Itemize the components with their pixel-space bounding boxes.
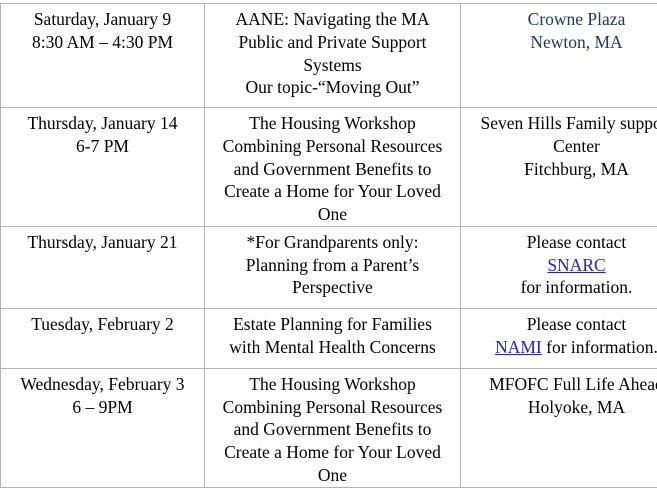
event-title-cell: AANE: Navigating the MA Public and Priva…	[205, 4, 461, 108]
venue-line-suffix: for information.	[542, 337, 657, 357]
event-venue-cell: Please contact NAMI for information.	[461, 308, 657, 368]
event-line: Perspective	[211, 276, 454, 299]
time-line: 6 – 9PM	[7, 396, 198, 419]
venue-link-line: SNARC	[467, 254, 657, 277]
table-row: Tuesday, February 2 Estate Planning for …	[1, 308, 657, 368]
event-line: Public and Private Support	[211, 31, 454, 54]
event-line: One	[211, 203, 454, 226]
venue-line: Holyoke, MA	[467, 396, 657, 419]
event-line: Combining Personal Resources	[211, 135, 454, 158]
event-title-cell: *For Grandparents only: Planning from a …	[205, 226, 461, 308]
event-venue-cell: Seven Hills Family support Center Fitchb…	[461, 108, 657, 227]
event-venue-cell: MFOFC Full Life Ahead Holyoke, MA	[461, 368, 657, 487]
event-date-cell: Thursday, January 21	[1, 226, 205, 308]
date-line: Wednesday, February 3	[7, 373, 198, 396]
event-line: Combining Personal Resources	[211, 396, 454, 419]
event-line: The Housing Workshop	[211, 112, 454, 135]
time-line: 8:30 AM – 4:30 PM	[7, 31, 198, 54]
event-date-cell: Saturday, January 9 8:30 AM – 4:30 PM	[1, 4, 205, 108]
date-line: Tuesday, February 2	[7, 313, 198, 336]
event-line: with Mental Health Concerns	[211, 336, 454, 359]
event-date-cell: Thursday, January 14 6-7 PM	[1, 108, 205, 227]
table-row: Thursday, January 21 *For Grandparents o…	[1, 226, 657, 308]
table-row: Wednesday, February 3 6 – 9PM The Housin…	[1, 368, 657, 487]
date-line: Saturday, January 9	[7, 8, 198, 31]
event-line: Create a Home for Your Loved	[211, 441, 454, 464]
venue-line: Newton, MA	[467, 31, 657, 54]
event-title-cell: The Housing Workshop Combining Personal …	[205, 108, 461, 227]
event-line: One	[211, 464, 454, 487]
event-schedule-table: Saturday, January 9 8:30 AM – 4:30 PM AA…	[0, 3, 657, 488]
event-title-cell: The Housing Workshop Combining Personal …	[205, 368, 461, 487]
event-date-cell: Wednesday, February 3 6 – 9PM	[1, 368, 205, 487]
venue-line: Seven Hills Family support	[467, 112, 657, 135]
event-line: Estate Planning for Families	[211, 313, 454, 336]
event-date-cell: Tuesday, February 2	[1, 308, 205, 368]
event-line: and Government Benefits to	[211, 158, 454, 181]
event-title-cell: Estate Planning for Families with Mental…	[205, 308, 461, 368]
event-line: AANE: Navigating the MA	[211, 8, 454, 31]
venue-line: for information.	[467, 276, 657, 299]
table-row: Saturday, January 9 8:30 AM – 4:30 PM AA…	[1, 4, 657, 108]
event-line: Planning from a Parent’s	[211, 254, 454, 277]
venue-line: Center	[467, 135, 657, 158]
date-line: Thursday, January 21	[7, 231, 198, 254]
event-line: and Government Benefits to	[211, 418, 454, 441]
venue-line: MFOFC Full Life Ahead	[467, 373, 657, 396]
nami-link[interactable]: NAMI	[495, 337, 542, 357]
event-line: *For Grandparents only:	[211, 231, 454, 254]
event-venue-cell: Crowne Plaza Newton, MA	[461, 4, 657, 108]
event-line: Create a Home for Your Loved	[211, 180, 454, 203]
venue-link-line: NAMI for information.	[467, 336, 657, 359]
snarc-link[interactable]: SNARC	[547, 255, 605, 275]
venue-line: Please contact	[467, 231, 657, 254]
venue-line: Please contact	[467, 313, 657, 336]
time-line: 6-7 PM	[7, 135, 198, 158]
table-row: Thursday, January 14 6-7 PM The Housing …	[1, 108, 657, 227]
event-line: Our topic-“Moving Out”	[211, 76, 454, 99]
venue-line: Crowne Plaza	[467, 8, 657, 31]
schedule-body: Saturday, January 9 8:30 AM – 4:30 PM AA…	[1, 4, 657, 488]
date-line: Thursday, January 14	[7, 112, 198, 135]
event-line: The Housing Workshop	[211, 373, 454, 396]
event-line: Systems	[211, 54, 454, 77]
venue-line: Fitchburg, MA	[467, 158, 657, 181]
event-venue-cell: Please contact SNARC for information.	[461, 226, 657, 308]
